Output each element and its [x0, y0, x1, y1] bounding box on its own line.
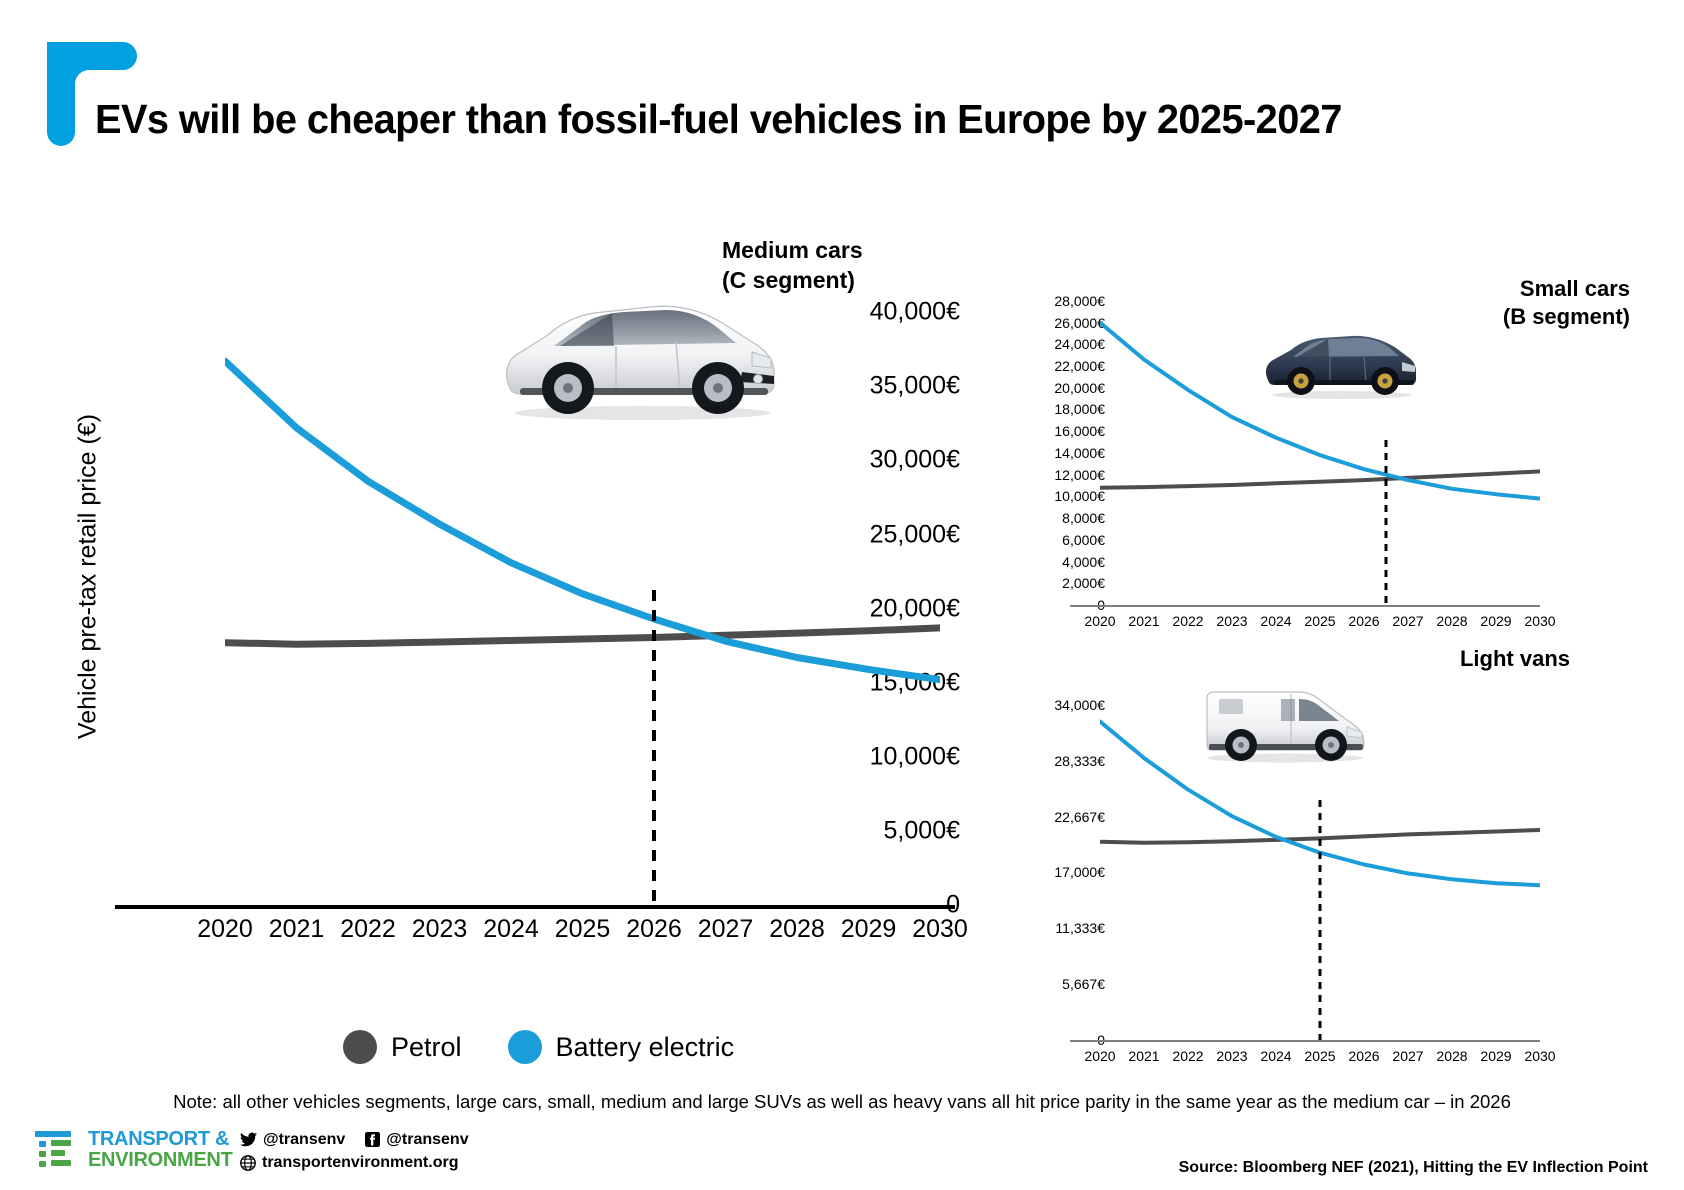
twitter-handle: @transenv [263, 1128, 345, 1151]
light-vans-x-tick-label: 2030 [1518, 1048, 1562, 1064]
main-y-axis-title: Vehicle pre-tax retail price (€) [74, 367, 103, 787]
small-cars-series-petrol-line [1100, 471, 1540, 487]
light-vans-x-tick-label: 2027 [1386, 1048, 1430, 1064]
medium-cars-title-line1: Medium cars [722, 235, 863, 265]
main-x-tick-label: 2030 [895, 915, 985, 944]
light-vans-x-tick-label: 2022 [1166, 1048, 1210, 1064]
legend-item-battery-electric: Battery electric [508, 1030, 735, 1064]
legend-dot-battery-electric-icon [508, 1030, 542, 1064]
chart-legend: Petrol Battery electric [343, 1030, 734, 1064]
source-credit: Source: Bloomberg NEF (2021), Hitting th… [1179, 1159, 1648, 1177]
facebook-link[interactable]: @transenv [365, 1128, 468, 1151]
light-vans-x-tick-label: 2023 [1210, 1048, 1254, 1064]
main-x-axis-line [115, 905, 955, 909]
light-vans-x-tick-label: 2026 [1342, 1048, 1386, 1064]
website-url: transportenvironment.org [262, 1151, 458, 1174]
page-title: EVs will be cheaper than fossil-fuel veh… [95, 96, 1342, 143]
small-cars-x-tick-label: 2030 [1518, 613, 1562, 629]
light-vans-x-axis-line [1070, 1040, 1540, 1042]
small-cars-y-tick-label: 20,000€ [985, 381, 1105, 395]
small-cars-y-tick-label: 22,000€ [985, 359, 1105, 373]
light-vans-title-line1: Light vans [1180, 645, 1570, 673]
social-links: @transenv @transenv transportenvironment… [240, 1128, 483, 1174]
small-cars-y-tick-label: 8,000€ [985, 511, 1105, 525]
small-cars-x-tick-label: 2021 [1122, 613, 1166, 629]
facebook-handle: @transenv [386, 1128, 468, 1151]
small-cars-x-tick-label: 2028 [1430, 613, 1474, 629]
light-vans-x-tick-label: 2028 [1430, 1048, 1474, 1064]
medium-cars-chart: Vehicle pre-tax retail price (€) 05,000€… [60, 290, 960, 930]
footnote-text: Note: all other vehicles segments, large… [0, 1091, 1684, 1113]
globe-icon [240, 1155, 256, 1171]
small-cars-y-tick-label: 12,000€ [985, 468, 1105, 482]
legend-dot-petrol-icon [343, 1030, 377, 1064]
light-vans-x-tick-label: 2029 [1474, 1048, 1518, 1064]
light-vans-y-tick-label: 28,333€ [985, 754, 1105, 768]
legend-label-petrol: Petrol [391, 1032, 462, 1063]
small-cars-x-tick-label: 2023 [1210, 613, 1254, 629]
small-cars-y-tick-label: 26,000€ [985, 316, 1105, 330]
website-link[interactable]: transportenvironment.org [240, 1151, 483, 1174]
small-cars-x-tick-label: 2024 [1254, 613, 1298, 629]
small-cars-y-tick-label: 6,000€ [985, 533, 1105, 547]
small-cars-y-tick-label: 10,000€ [985, 489, 1105, 503]
light-vans-x-tick-label: 2025 [1298, 1048, 1342, 1064]
light-vans-y-tick-label: 5,667€ [985, 977, 1105, 991]
te-logo-line2: ENVIRONMENT [88, 1150, 232, 1171]
te-logo-wordmark: TRANSPORT & ENVIRONMENT [88, 1129, 232, 1170]
small-cars-y-tick-labels: 02,000€4,000€6,000€8,000€10,000€12,000€1… [985, 290, 1105, 610]
small-cars-chart: 02,000€4,000€6,000€8,000€10,000€12,000€1… [1040, 290, 1540, 635]
twitter-icon [240, 1132, 257, 1147]
main-series-petrol-line [225, 628, 940, 644]
light-vans-y-tick-label: 17,000€ [985, 865, 1105, 879]
small-cars-series-battery-electric-line [1100, 323, 1540, 499]
legend-label-battery-electric: Battery electric [556, 1032, 735, 1063]
light-vans-panel-title: Light vans [1180, 645, 1570, 673]
light-vans-plot-area [1100, 690, 1540, 1040]
small-cars-y-tick-label: 14,000€ [985, 446, 1105, 460]
small-cars-y-tick-label: 24,000€ [985, 337, 1105, 351]
small-cars-plot-area [1100, 290, 1540, 605]
social-row-handles: @transenv @transenv [240, 1128, 483, 1151]
light-vans-y-tick-label: 34,000€ [985, 698, 1105, 712]
facebook-icon [365, 1132, 380, 1147]
small-cars-y-tick-label: 4,000€ [985, 555, 1105, 569]
small-cars-y-tick-label: 28,000€ [985, 294, 1105, 308]
small-cars-x-tick-label: 2027 [1386, 613, 1430, 629]
light-vans-y-tick-labels: 05,667€11,333€17,000€22,667€28,333€34,00… [985, 690, 1105, 1040]
light-vans-y-tick-label: 11,333€ [985, 921, 1105, 935]
light-vans-y-tick-label: 22,667€ [985, 810, 1105, 824]
transport-environment-logo: TRANSPORT & ENVIRONMENT [33, 1128, 232, 1172]
te-logo-line1: TRANSPORT & [88, 1129, 232, 1150]
small-cars-x-tick-label: 2025 [1298, 613, 1342, 629]
legend-item-petrol: Petrol [343, 1030, 462, 1064]
small-cars-x-tick-label: 2022 [1166, 613, 1210, 629]
main-plot-area [225, 290, 940, 905]
small-cars-y-tick-label: 2,000€ [985, 576, 1105, 590]
te-logo-mark-icon [33, 1128, 79, 1172]
light-vans-chart: 05,667€11,333€17,000€22,667€28,333€34,00… [1040, 690, 1540, 1070]
small-cars-x-tick-label: 2026 [1342, 613, 1386, 629]
small-cars-y-tick-label: 18,000€ [985, 402, 1105, 416]
small-cars-x-tick-label: 2020 [1078, 613, 1122, 629]
small-cars-x-tick-label: 2029 [1474, 613, 1518, 629]
small-cars-y-tick-label: 16,000€ [985, 424, 1105, 438]
light-vans-x-tick-label: 2020 [1078, 1048, 1122, 1064]
light-vans-x-tick-label: 2021 [1122, 1048, 1166, 1064]
light-vans-x-tick-label: 2024 [1254, 1048, 1298, 1064]
small-cars-x-axis-line [1070, 605, 1540, 607]
twitter-link[interactable]: @transenv [240, 1128, 345, 1151]
